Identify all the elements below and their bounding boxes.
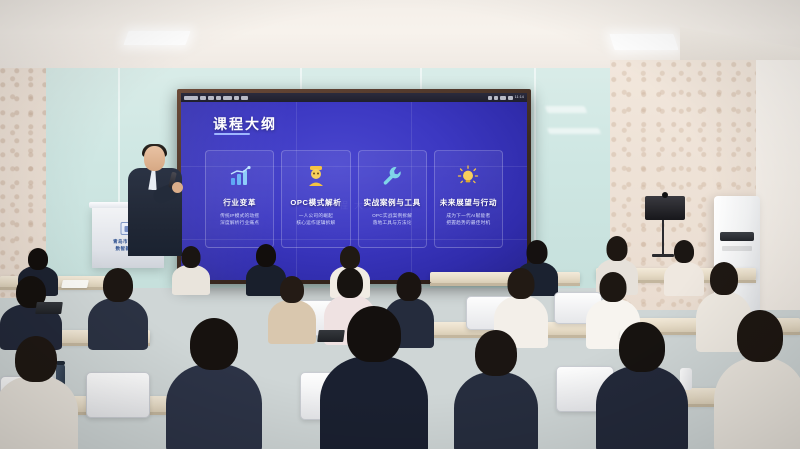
tripod-camera — [645, 196, 685, 220]
speaker-hand — [172, 182, 183, 193]
tools-icon[interactable] — [241, 96, 248, 100]
taskbar-left-icons[interactable] — [184, 96, 248, 100]
slide-card-title: 未来展望与行动 — [440, 197, 497, 208]
slide-card-line-2: 核心运作逻辑拆解 — [296, 219, 335, 226]
right-wall-panel — [756, 60, 800, 310]
camera-lens-icon — [662, 192, 668, 198]
wifi-icon[interactable] — [488, 96, 492, 100]
chair[interactable] — [86, 372, 150, 418]
slide-card-line-2: 把握趋势的最佳时机 — [446, 219, 490, 226]
ceiling-light-right — [609, 34, 678, 50]
classroom-scene: 11:14 课程大纲 课程大纲 — [0, 0, 800, 449]
slide-card-line-1: OPC实战案例拆解 — [372, 212, 412, 219]
audience-member — [320, 306, 428, 449]
notebook-paper[interactable] — [61, 280, 89, 288]
edit-icon[interactable] — [208, 96, 214, 100]
slide-card-line-2: 深度解析行业痛点 — [220, 219, 259, 226]
slide-card-opc-model[interactable]: OPC模式解析 一人公司的崛起 核心运作逻辑拆解 — [281, 150, 350, 248]
audience-member — [596, 322, 688, 449]
slide-card-line-2: 落地工具与方法论 — [373, 219, 412, 226]
taskbar-clock: 11:14 — [515, 96, 524, 99]
audience-member — [88, 268, 148, 348]
laptop[interactable] — [35, 302, 63, 314]
wall-reflection — [545, 106, 588, 113]
slide-card-industry-change[interactable]: 行业变革 传统IP模式的动摇 深度解析行业痛点 — [205, 150, 274, 248]
help-icon[interactable] — [234, 96, 239, 100]
slide-card-line-1: 一人公司的崛起 — [299, 212, 333, 219]
slide-title-underline — [214, 133, 250, 135]
ime-icon[interactable] — [508, 96, 513, 100]
slide-title: 课程大纲 — [213, 114, 277, 134]
ac-vent — [720, 232, 754, 241]
audience-member — [172, 246, 210, 294]
user-persona-icon — [306, 163, 326, 189]
slide-card-line-1: 成为下一代AI赋能者 — [446, 212, 490, 219]
wrench-icon — [381, 163, 403, 189]
os-taskbar[interactable]: 11:14 — [181, 93, 527, 102]
file-icon[interactable] — [200, 96, 206, 100]
speaker-head — [144, 146, 165, 171]
slideshow-icon[interactable] — [223, 96, 232, 100]
ac-control-panel[interactable] — [722, 246, 752, 251]
battery-icon[interactable] — [500, 96, 506, 100]
slide-card-title: OPC模式解析 — [290, 197, 341, 208]
slide-card-practice-tools[interactable]: 实战案例与工具 OPC实战案例拆解 落地工具与方法论 — [358, 150, 427, 248]
slide-card-line-1: 传统IP模式的动摇 — [220, 212, 259, 219]
menu-icon[interactable] — [184, 96, 198, 100]
audience-member — [454, 330, 538, 449]
taskbar-right-icons[interactable]: 11:14 — [488, 96, 524, 100]
slide-card-list: 行业变革 传统IP模式的动摇 深度解析行业痛点 — [205, 150, 503, 248]
slide-card-title: 行业变革 — [223, 197, 256, 208]
volume-icon[interactable] — [494, 96, 498, 100]
audience-member — [166, 318, 262, 449]
slide-card-future-action[interactable]: 未来展望与行动 成为下一代AI赋能者 把握趋势的最佳时机 — [434, 150, 503, 248]
ceiling-light-left — [123, 31, 190, 45]
audience-member — [0, 336, 78, 449]
slide-card-title: 实战案例与工具 — [363, 197, 420, 208]
lightbulb-icon — [457, 163, 479, 189]
audience-member — [268, 276, 316, 342]
audience-member — [714, 310, 800, 449]
view-icon[interactable] — [216, 96, 221, 100]
bar-chart-icon — [229, 163, 251, 189]
speaker — [120, 146, 186, 256]
wall-reflection — [547, 128, 601, 134]
